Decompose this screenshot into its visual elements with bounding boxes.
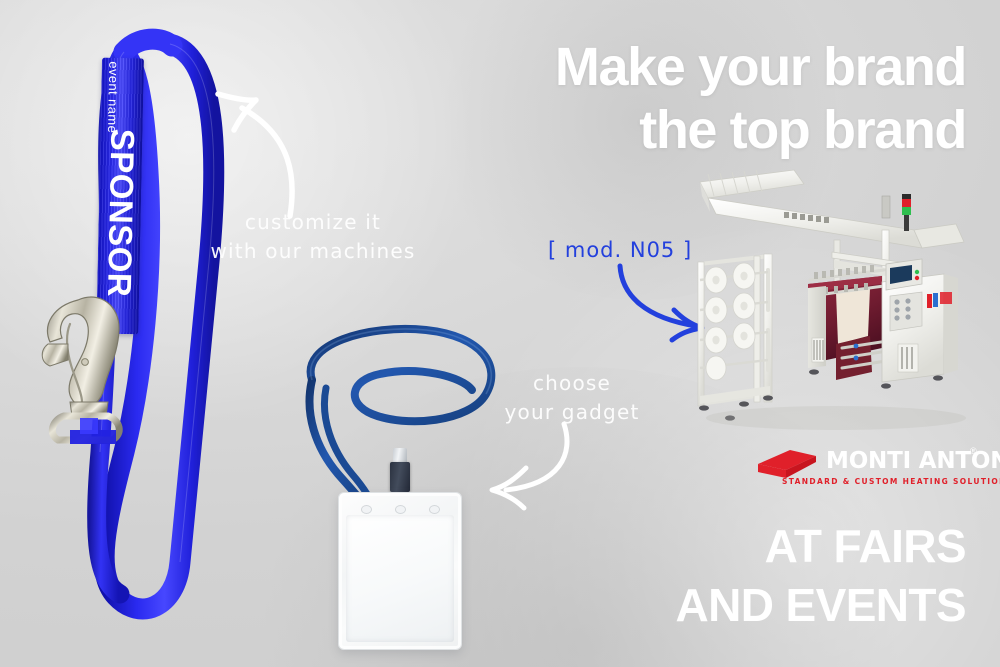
brand-logo: MONTI ANTONIO ® STANDARD & CUSTOM HEATIN… [756, 444, 976, 496]
badge-hole [361, 505, 372, 514]
bottom-headline: AT FAIRS AND EVENTS [346, 517, 966, 635]
note-gadget-line-1: choose [533, 371, 611, 395]
badge-hole [429, 505, 440, 514]
note-customize: customize it with our machines [208, 208, 418, 266]
bottom-headline-line-2: AND EVENTS [346, 576, 966, 635]
note-customize-line-1: customize it [245, 210, 381, 234]
headline-line-1: Make your brand [555, 37, 966, 97]
sponsor-lanyard: event name SPONSOR [20, 22, 250, 642]
headline: Make your brand the top brand [346, 36, 966, 161]
headline-line-2: the top brand [346, 99, 966, 162]
note-gadget: choose your gadget [492, 369, 652, 427]
poster-canvas: Make your brand the top brand [0, 0, 1000, 667]
machine-illustration [686, 168, 994, 436]
note-gadget-line-2: your gadget [492, 398, 652, 427]
logo-registered-mark: ® [970, 446, 977, 456]
logo-tagline: STANDARD & CUSTOM HEATING SOLUTIONS [782, 477, 1000, 486]
bottom-headline-line-1: AT FAIRS [765, 520, 966, 572]
note-customize-line-2: with our machines [208, 237, 418, 266]
badge-hole [395, 505, 406, 514]
machine-n05 [686, 168, 994, 433]
lanyard-print: event name SPONSOR [96, 58, 144, 335]
lanyard-printed-strap: event name SPONSOR [96, 58, 144, 335]
badge-clip [390, 462, 410, 492]
model-label: [ mod. N05 ] [548, 238, 692, 262]
lanyard-sponsor-text: SPONSOR [99, 73, 143, 354]
